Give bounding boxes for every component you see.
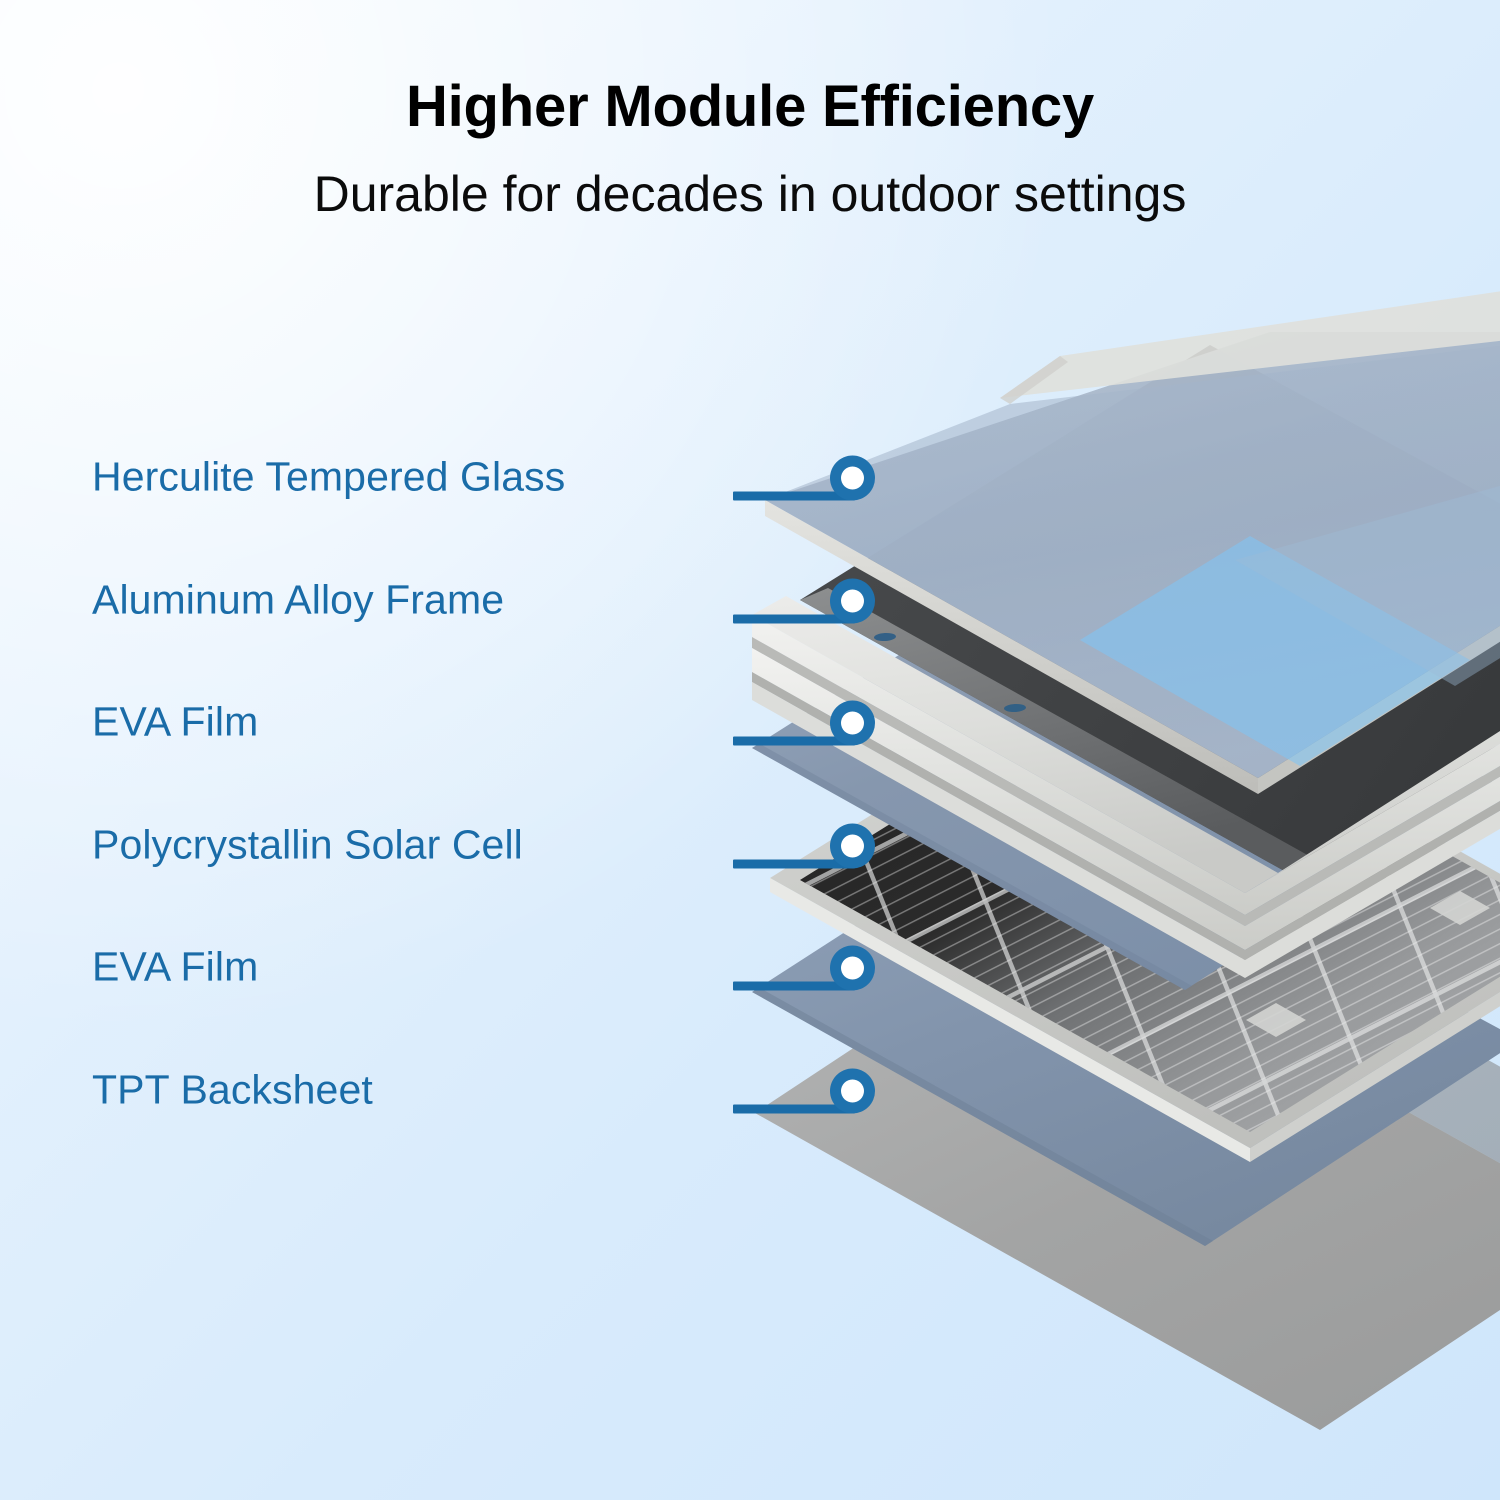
- callout-dot-icon[interactable]: [830, 823, 875, 868]
- callout-dot-icon[interactable]: [830, 455, 875, 500]
- callout-dot-icon[interactable]: [830, 578, 875, 623]
- page-subtitle: Durable for decades in outdoor settings: [0, 167, 1500, 222]
- callout-label: TPT Backsheet: [92, 1066, 373, 1113]
- callout-label: Aluminum Alloy Frame: [92, 576, 504, 623]
- callout-dot-icon[interactable]: [830, 1068, 875, 1113]
- header-block: Higher Module Efficiency Durable for dec…: [0, 76, 1500, 222]
- callout-label: Polycrystallin Solar Cell: [92, 821, 523, 868]
- callout-label: Herculite Tempered Glass: [92, 453, 565, 500]
- solar-panel-exploded-diagram: [0, 0, 1500, 1500]
- page-title: Higher Module Efficiency: [0, 76, 1500, 139]
- callout-dot-icon[interactable]: [830, 945, 875, 990]
- callout-label: EVA Film: [92, 943, 258, 990]
- callout-dot-icon[interactable]: [830, 700, 875, 745]
- infographic-canvas: Higher Module Efficiency Durable for dec…: [0, 0, 1500, 1500]
- callout-label: EVA Film: [92, 698, 258, 745]
